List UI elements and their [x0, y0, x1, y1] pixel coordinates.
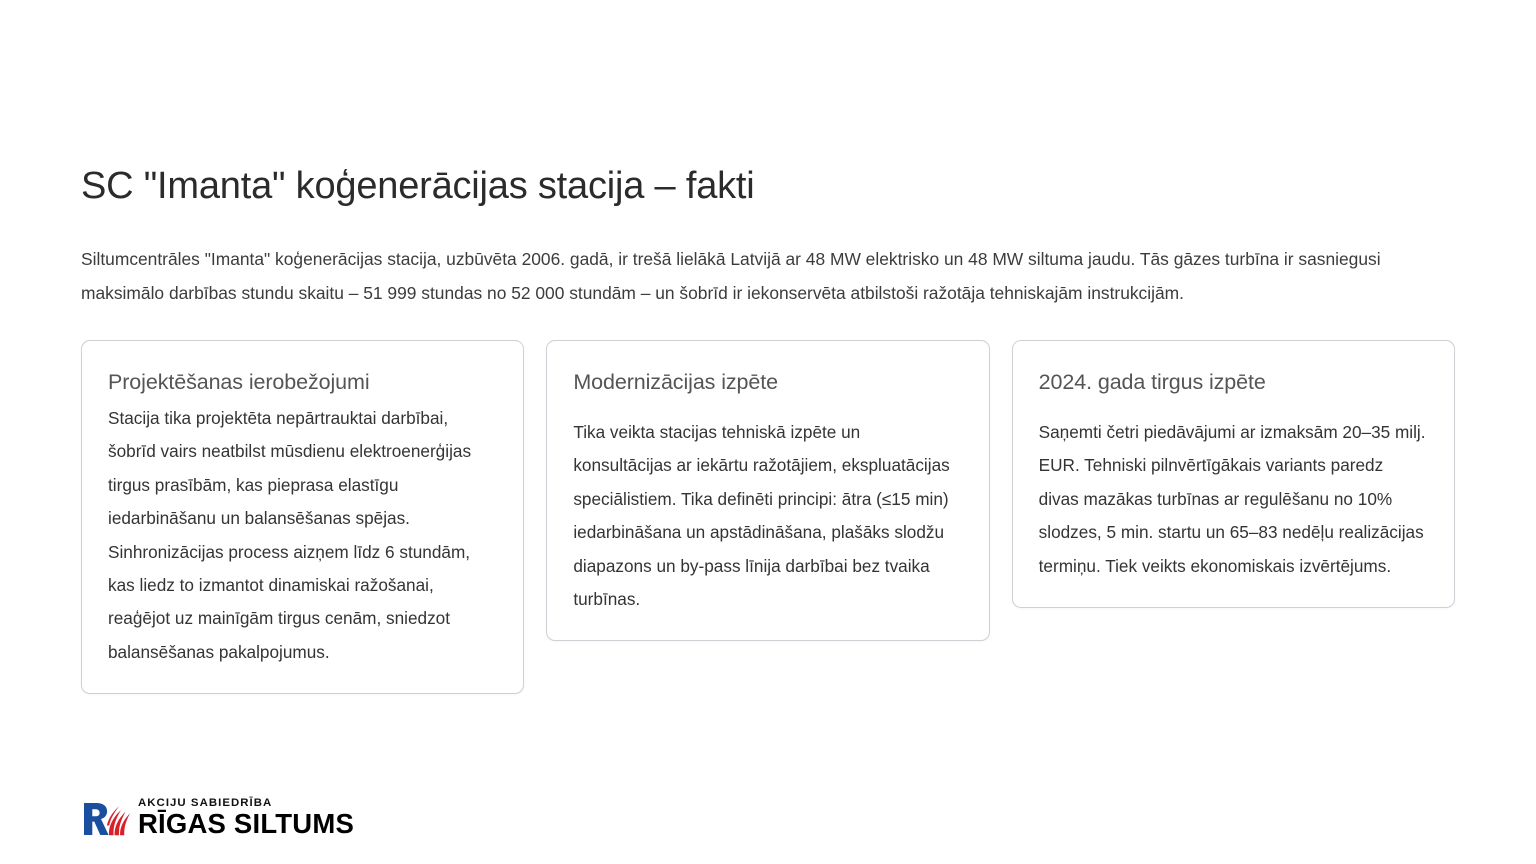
- page-title: SC "Imanta" koģenerācijas stacija – fakt…: [81, 161, 1451, 211]
- fact-card-body: Stacija tika projektēta nepārtrauktai da…: [108, 402, 497, 669]
- intro-paragraph: Siltumcentrāles "Imanta" koģenerācijas s…: [81, 243, 1439, 310]
- fact-card-heading: Projektēšanas ierobežojumi: [108, 368, 497, 396]
- slide-canvas: SC "Imanta" koģenerācijas stacija – fakt…: [0, 0, 1536, 864]
- logo-company-name: RĪGAS SILTUMS: [138, 809, 354, 838]
- fact-card-body: Tika veikta stacijas tehniskā izpēte un …: [573, 416, 962, 616]
- rigas-siltums-logo-mark: [81, 799, 131, 839]
- fact-card-heading: 2024. gada tirgus izpēte: [1039, 368, 1428, 396]
- fact-card-design-limitations: Projektēšanas ierobežojumi Stacija tika …: [81, 340, 524, 694]
- fact-card-market-study-2024: 2024. gada tirgus izpēte Saņemti četri p…: [1012, 340, 1455, 608]
- company-logo: AKCIJU SABIEDRĪBA RĪGAS SILTUMS: [81, 797, 354, 839]
- logo-wordmark: AKCIJU SABIEDRĪBA RĪGAS SILTUMS: [138, 797, 354, 839]
- fact-card-modernisation-study: Modernizācijas izpēte Tika veikta stacij…: [546, 340, 989, 641]
- fact-card-heading: Modernizācijas izpēte: [573, 368, 962, 396]
- fact-card-body: Saņemti četri piedāvājumi ar izmaksām 20…: [1039, 416, 1428, 583]
- fact-cards-row: Projektēšanas ierobežojumi Stacija tika …: [81, 340, 1455, 694]
